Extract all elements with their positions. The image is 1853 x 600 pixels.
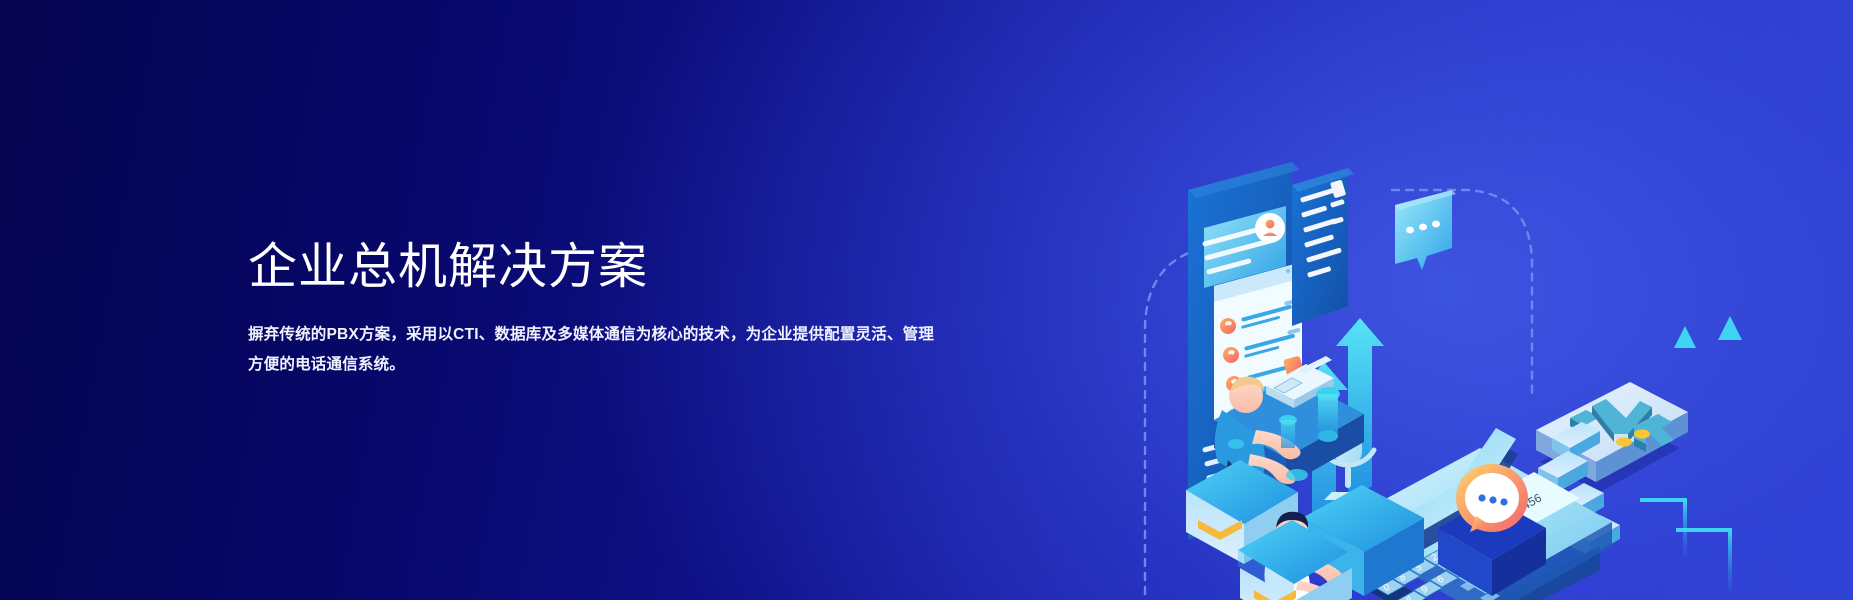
hero-text-block: 企业总机解决方案 摒弃传统的PBX方案，采用以CTI、数据库及多媒体通信为核心的… — [248, 236, 948, 380]
chat-bubble — [1395, 190, 1456, 270]
document-card — [1292, 168, 1354, 326]
page-title: 企业总机解决方案 — [248, 236, 948, 298]
hero-banner: 企业总机解决方案 摒弃传统的PBX方案，采用以CTI、数据库及多媒体通信为核心的… — [0, 0, 1853, 600]
hero-illustration: 123456 1 2 3 4 5 — [940, 30, 1853, 600]
hero-subcopy: 摒弃传统的PBX方案，采用以CTI、数据库及多媒体通信为核心的技术，为企业提供配… — [248, 320, 938, 380]
